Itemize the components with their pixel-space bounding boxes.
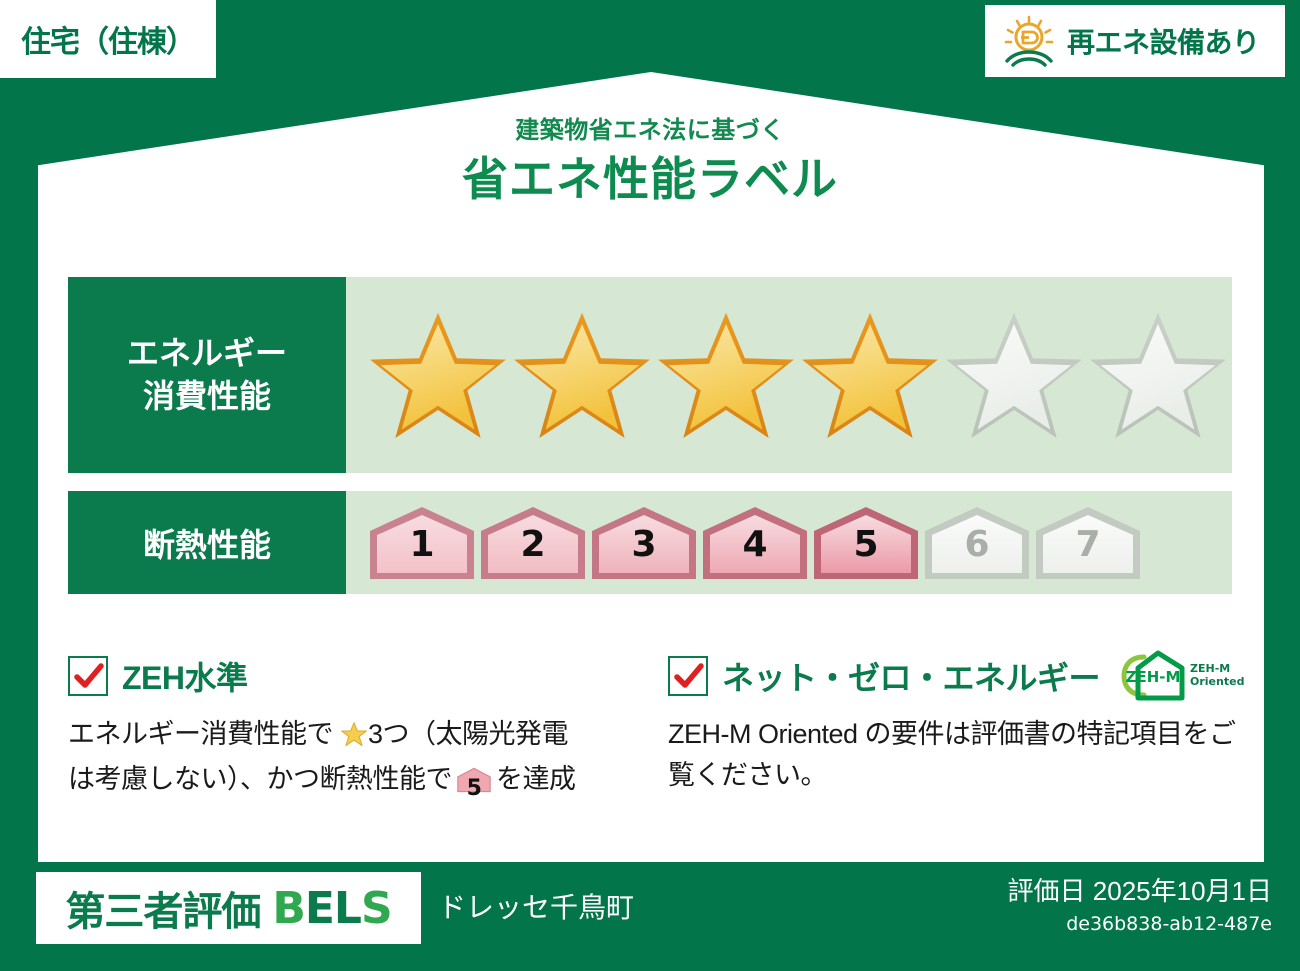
evaluation-id: de36b838-ab12-487e xyxy=(1008,913,1272,936)
sun-renewable-icon xyxy=(1001,15,1057,67)
bels-third-party-badge: 第三者評価 BELS xyxy=(36,872,421,944)
criteria-zeh-standard: ZEH水準 エネルギー消費性能で 3つ（太陽光発電は考慮しない）、かつ断熱性能で… xyxy=(68,650,668,830)
zeh-standard-checkbox[interactable] xyxy=(68,656,108,696)
renewable-equipment-label: 再エネ設備あり xyxy=(1067,21,1260,61)
star-icon-filled xyxy=(656,308,796,442)
zeh-desc-part-b: 3つ（太陽光発電 xyxy=(368,719,568,749)
house-grade-icon-active: 1 xyxy=(368,506,476,580)
inline-house-grade-icon: 5 xyxy=(455,765,493,806)
evaluation-date: 評価日 2025年10月1日 xyxy=(1008,876,1272,907)
energy-performance-row-label: エネルギー 消費性能 xyxy=(68,277,346,473)
title-subtitle: 建築物省エネ法に基づく xyxy=(0,118,1300,144)
insulation-label-text: 断熱性能 xyxy=(143,520,271,566)
star-icon-filled xyxy=(512,308,652,442)
net-zero-energy-description: ZEH-M Oriented の要件は評価書の特記項目をご覧ください。 xyxy=(668,714,1248,796)
inline-house-grade-number: 5 xyxy=(455,772,493,805)
energy-stars-container xyxy=(346,277,1232,473)
zeh-desc-part-a: エネルギー消費性能で xyxy=(68,719,333,749)
house-grade-number: 1 xyxy=(368,524,476,565)
insulation-grade-scale: 1234567 xyxy=(368,506,1142,580)
net-zero-energy-title: ネット・ゼロ・エネルギー xyxy=(722,653,1100,699)
zeh-m-oriented-caption: ZEH-M Oriented xyxy=(1190,663,1244,688)
zeh-standard-description: エネルギー消費性能で 3つ（太陽光発電は考慮しない）、かつ断熱性能で 5 を達成 xyxy=(68,714,668,806)
star-icon-filled xyxy=(368,308,508,442)
bels-letter-b: B xyxy=(272,883,305,934)
house-grade-number: 3 xyxy=(590,524,698,565)
bels-letter-el: EL xyxy=(305,883,361,934)
zeh-m-oriented-logo: ZEH-M ZEH-M Oriented xyxy=(1120,648,1244,704)
bels-jp-label: 第三者評価 xyxy=(65,879,260,937)
inline-star-icon xyxy=(334,723,367,753)
footer-evaluation-info: 評価日 2025年10月1日 de36b838-ab12-487e xyxy=(1008,876,1272,936)
check-icon xyxy=(72,660,106,694)
house-grade-icon-active: 4 xyxy=(701,506,809,580)
svg-text:ZEH-M: ZEH-M xyxy=(1126,668,1181,686)
energy-label-line2: 消費性能 xyxy=(143,375,271,418)
house-grade-icon-active: 3 xyxy=(590,506,698,580)
criteria-zeh-header: ZEH水準 xyxy=(68,650,668,702)
check-icon xyxy=(672,660,706,694)
dwelling-type-label: 住宅（住棟） xyxy=(21,17,195,61)
zeh-desc-part-c: は考慮しない）、かつ断熱性能で xyxy=(68,764,452,794)
criteria-nze-header: ネット・ゼロ・エネルギー ZEH-M ZEH-M Oriented xyxy=(668,650,1248,702)
bels-letter-s: S xyxy=(361,883,392,934)
house-grade-number: 4 xyxy=(701,524,809,565)
dwelling-type-tag: 住宅（住棟） xyxy=(0,0,216,78)
house-grade-icon-inactive: 6 xyxy=(923,506,1031,580)
energy-performance-row: エネルギー 消費性能 xyxy=(68,277,1232,473)
house-grade-number: 2 xyxy=(479,524,587,565)
renewable-equipment-badge: 再エネ設備あり xyxy=(985,5,1285,77)
house-grade-icon-inactive: 7 xyxy=(1034,506,1142,580)
zeh-m-caption-line1: ZEH-M xyxy=(1190,662,1230,675)
label-title-block: 建築物省エネ法に基づく 省エネ性能ラベル xyxy=(0,118,1300,205)
insulation-performance-row: 断熱性能 1234567 xyxy=(68,491,1232,594)
energy-label-line1: エネルギー xyxy=(127,332,287,375)
zeh-m-caption-line2: Oriented xyxy=(1190,675,1244,688)
star-icon-empty xyxy=(944,308,1084,442)
energy-performance-label: 住宅（住棟） 再エネ設備あり 建築 xyxy=(0,0,1300,971)
star-rating xyxy=(368,308,1228,442)
criteria-section: ZEH水準 エネルギー消費性能で 3つ（太陽光発電は考慮しない）、かつ断熱性能で… xyxy=(68,650,1248,830)
page-title: 省エネ性能ラベル xyxy=(0,154,1300,205)
net-zero-energy-checkbox[interactable] xyxy=(668,656,708,696)
building-name: ドレッセ千鳥町 xyxy=(438,886,634,926)
criteria-net-zero-energy: ネット・ゼロ・エネルギー ZEH-M ZEH-M Oriented ZEH-M … xyxy=(668,650,1248,830)
house-grade-icon-active: 5 xyxy=(812,506,920,580)
zeh-standard-title: ZEH水準 xyxy=(122,653,248,699)
house-grade-number: 5 xyxy=(812,524,920,565)
house-grade-number: 7 xyxy=(1034,524,1142,565)
bels-en-label: BELS xyxy=(272,883,391,934)
insulation-performance-row-label: 断熱性能 xyxy=(68,491,346,594)
zeh-m-house-icon: ZEH-M xyxy=(1120,648,1186,704)
house-grade-icon-active: 2 xyxy=(479,506,587,580)
star-icon-filled xyxy=(800,308,940,442)
insulation-grades-container: 1234567 xyxy=(346,491,1232,594)
zeh-desc-part-d: を達成 xyxy=(496,764,576,794)
star-icon-empty xyxy=(1088,308,1228,442)
house-grade-number: 6 xyxy=(923,524,1031,565)
